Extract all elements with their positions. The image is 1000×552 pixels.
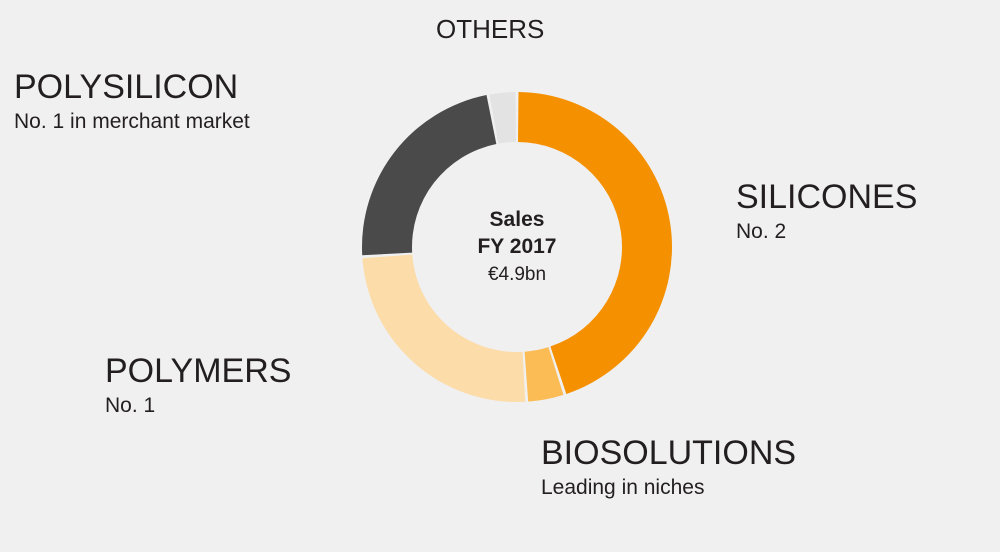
segment-label-polymers: POLYMERS No. 1 [105,352,291,419]
segment-label-others: OTHERS [436,14,544,44]
segment-label-silicones-title: SILICONES [736,178,917,216]
segment-label-polymers-sub: No. 1 [105,393,291,419]
donut-slice-polysilicon [362,95,496,255]
donut-slices [362,92,672,402]
segment-label-silicones-sub: No. 2 [736,219,917,245]
segment-label-biosolutions: BIOSOLUTIONS Leading in niches [541,434,796,501]
segment-label-polysilicon-title: POLYSILICON [14,68,250,106]
segment-label-others-title: OTHERS [436,14,544,44]
segment-label-silicones: SILICONES No. 2 [736,178,917,245]
segment-label-polysilicon-sub: No. 1 in merchant market [14,109,250,135]
segment-label-polymers-title: POLYMERS [105,352,291,390]
segment-label-biosolutions-title: BIOSOLUTIONS [541,434,796,472]
donut-chart-svg [327,57,707,437]
donut-slice-polymers [362,255,525,402]
chart-canvas: OTHERS POLYSILICON No. 1 in merchant mar… [0,0,1000,552]
segment-label-biosolutions-sub: Leading in niches [541,475,796,501]
donut-chart: Sales FY 2017 €4.9bn [327,57,707,437]
segment-label-polysilicon: POLYSILICON No. 1 in merchant market [14,68,250,135]
donut-slice-silicones [518,92,672,394]
